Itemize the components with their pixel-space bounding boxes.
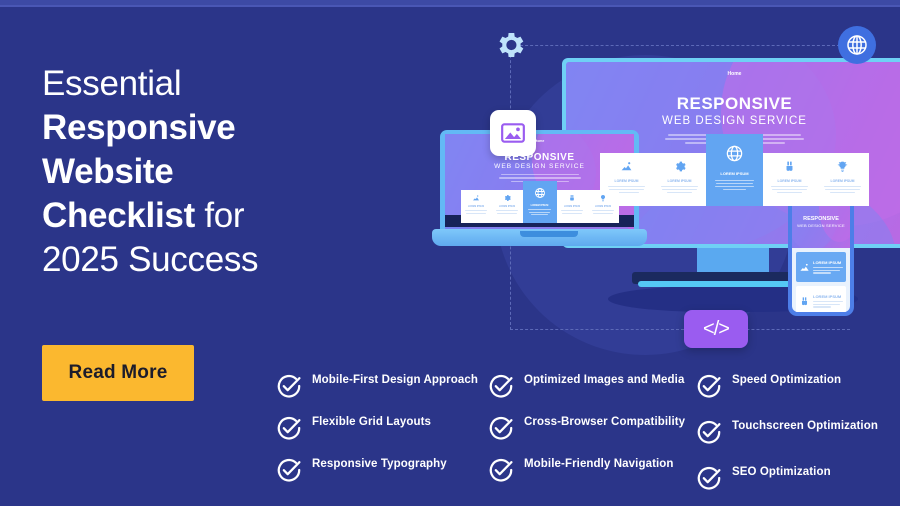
gear-icon [673, 160, 686, 173]
phone-feature-card-highlighted[interactable]: LOREM IPSUM [796, 252, 846, 282]
headline-line-5: 2025 Success [42, 238, 372, 282]
check-circle-icon [276, 373, 302, 399]
feature-card-label: LOREM IPSUM [595, 206, 611, 208]
list-item-label: Speed Optimization [732, 372, 841, 387]
image-mountain-icon [799, 262, 810, 273]
list-item-label: Mobile-First Design Approach [312, 372, 478, 387]
feature-card-label: LOREM IPSUM [499, 206, 515, 208]
binoculars-icon [568, 194, 576, 202]
floating-globe-badge[interactable] [838, 26, 876, 64]
checklist: Mobile-First Design Approach Flexible Gr… [276, 372, 886, 492]
list-item[interactable]: Mobile-Friendly Navigation [488, 456, 696, 484]
site-heading: RESPONSIVE [566, 94, 900, 114]
feature-card-label: LOREM IPSUM [668, 179, 692, 183]
list-item[interactable]: Cross-Browser Compatibility [488, 414, 696, 442]
banner-canvas: Essential Responsive Website Checklist f… [0, 0, 900, 506]
feature-card-label: LOREM IPSUM [778, 179, 802, 183]
check-circle-icon [488, 415, 514, 441]
feature-card-label: LOREM IPSUM [564, 206, 580, 208]
globe-icon [534, 187, 546, 199]
laptop-feature-cards: LOREM IPSUM LOREM IPSUM LOREM IPSUM [445, 181, 634, 223]
list-item-label: Mobile-Friendly Navigation [524, 456, 674, 471]
feature-card-highlighted[interactable]: LOREM IPSUM [706, 134, 763, 206]
image-mountain-icon [472, 194, 480, 202]
feature-card[interactable]: LOREM IPSUM [653, 153, 706, 206]
lightbulb-icon [599, 194, 607, 202]
lightbulb-icon [836, 160, 849, 173]
site-nav-label: Home [566, 62, 900, 77]
phone-feature-card-label: LOREM IPSUM [813, 260, 843, 265]
feature-card-label: LOREM IPSUM [531, 204, 549, 207]
feature-card-label: LOREM IPSUM [831, 179, 855, 183]
check-circle-icon [276, 415, 302, 441]
check-circle-icon [696, 373, 722, 399]
gear-icon [493, 28, 527, 62]
check-circle-icon [696, 465, 722, 491]
phone-subheading: WEB DESIGN SERVICE [792, 223, 850, 228]
feature-card-label: LOREM IPSUM [468, 206, 484, 208]
check-circle-icon [488, 457, 514, 483]
checklist-column-3: Speed Optimization Touchscreen Optimizat… [696, 372, 886, 492]
gear-icon [503, 194, 511, 202]
phone-feature-card[interactable]: LOREM IPSUM [796, 286, 846, 312]
feature-card[interactable]: LOREM IPSUM [461, 190, 492, 223]
laptop-site-content: Home RESPONSIVE WEB DESIGN SERVICE LOREM… [445, 134, 634, 231]
floating-code-badge[interactable]: </> [684, 310, 748, 348]
code-icon: </> [703, 318, 729, 341]
feature-card-label: LOREM IPSUM [720, 171, 748, 176]
feature-card[interactable]: LOREM IPSUM [557, 190, 588, 223]
hamburger-menu-icon[interactable] [838, 198, 845, 205]
check-circle-icon [276, 457, 302, 483]
list-item[interactable]: Touchscreen Optimization [696, 418, 886, 446]
feature-card[interactable]: LOREM IPSUM [492, 190, 523, 223]
globe-icon [845, 33, 869, 57]
laptop-lid: Home RESPONSIVE WEB DESIGN SERVICE LOREM… [440, 130, 639, 231]
globe-icon [725, 144, 744, 163]
check-circle-icon [488, 373, 514, 399]
laptop-screen: Home RESPONSIVE WEB DESIGN SERVICE LOREM… [445, 134, 634, 231]
list-item[interactable]: Responsive Typography [276, 456, 488, 484]
binoculars-icon [783, 160, 796, 173]
site-subheading: WEB DESIGN SERVICE [445, 163, 634, 170]
site-nav-label: Home [445, 134, 634, 143]
phone-feature-card-label: LOREM IPSUM [813, 294, 843, 299]
feature-card-highlighted[interactable]: LOREM IPSUM [523, 181, 557, 223]
list-item-label: SEO Optimization [732, 464, 831, 479]
checklist-column-1: Mobile-First Design Approach Flexible Gr… [276, 372, 488, 492]
responsive-devices-illustration: Home RESPONSIVE WEB DESIGN SERVICE LOREM… [400, 0, 900, 360]
list-item[interactable]: Speed Optimization [696, 372, 886, 400]
floating-gear-badge[interactable] [491, 26, 529, 64]
list-item[interactable]: SEO Optimization [696, 464, 886, 492]
checklist-column-3-inner: Speed Optimization Touchscreen Optimizat… [696, 372, 886, 492]
list-item-label: Responsive Typography [312, 456, 447, 471]
laptop-device: Home RESPONSIVE WEB DESIGN SERVICE LOREM… [432, 130, 647, 245]
phone-logo: LogoWork [797, 198, 824, 204]
headline-line-3: Website [42, 150, 372, 194]
list-item[interactable]: Mobile-First Design Approach [276, 372, 488, 400]
list-item[interactable]: Optimized Images and Media [488, 372, 696, 400]
check-circle-icon [696, 419, 722, 445]
headline-line-1: Essential [42, 62, 372, 106]
list-item-label: Cross-Browser Compatibility [524, 414, 685, 429]
list-item[interactable]: Flexible Grid Layouts [276, 414, 488, 442]
headline-line-4-bold: Checklist [42, 196, 195, 235]
list-item-label: Optimized Images and Media [524, 372, 684, 387]
dashed-connector-bottom [510, 329, 850, 330]
checklist-column-2: Optimized Images and Media Cross-Browser… [488, 372, 696, 492]
site-heading: RESPONSIVE [445, 152, 634, 163]
list-item-label: Touchscreen Optimization [732, 418, 878, 433]
dashed-connector-top [510, 45, 840, 46]
list-item-label: Flexible Grid Layouts [312, 414, 431, 429]
feature-card[interactable]: LOREM IPSUM [588, 190, 619, 223]
read-more-button[interactable]: Read More [42, 345, 194, 401]
site-subheading: WEB DESIGN SERVICE [566, 115, 900, 127]
page-title: Essential Responsive Website Checklist f… [42, 62, 372, 282]
headline-line-4-light: for [195, 196, 244, 235]
phone-heading: RESPONSIVE [792, 216, 850, 222]
binoculars-icon [799, 296, 810, 307]
headline-line-2: Responsive [42, 106, 372, 150]
